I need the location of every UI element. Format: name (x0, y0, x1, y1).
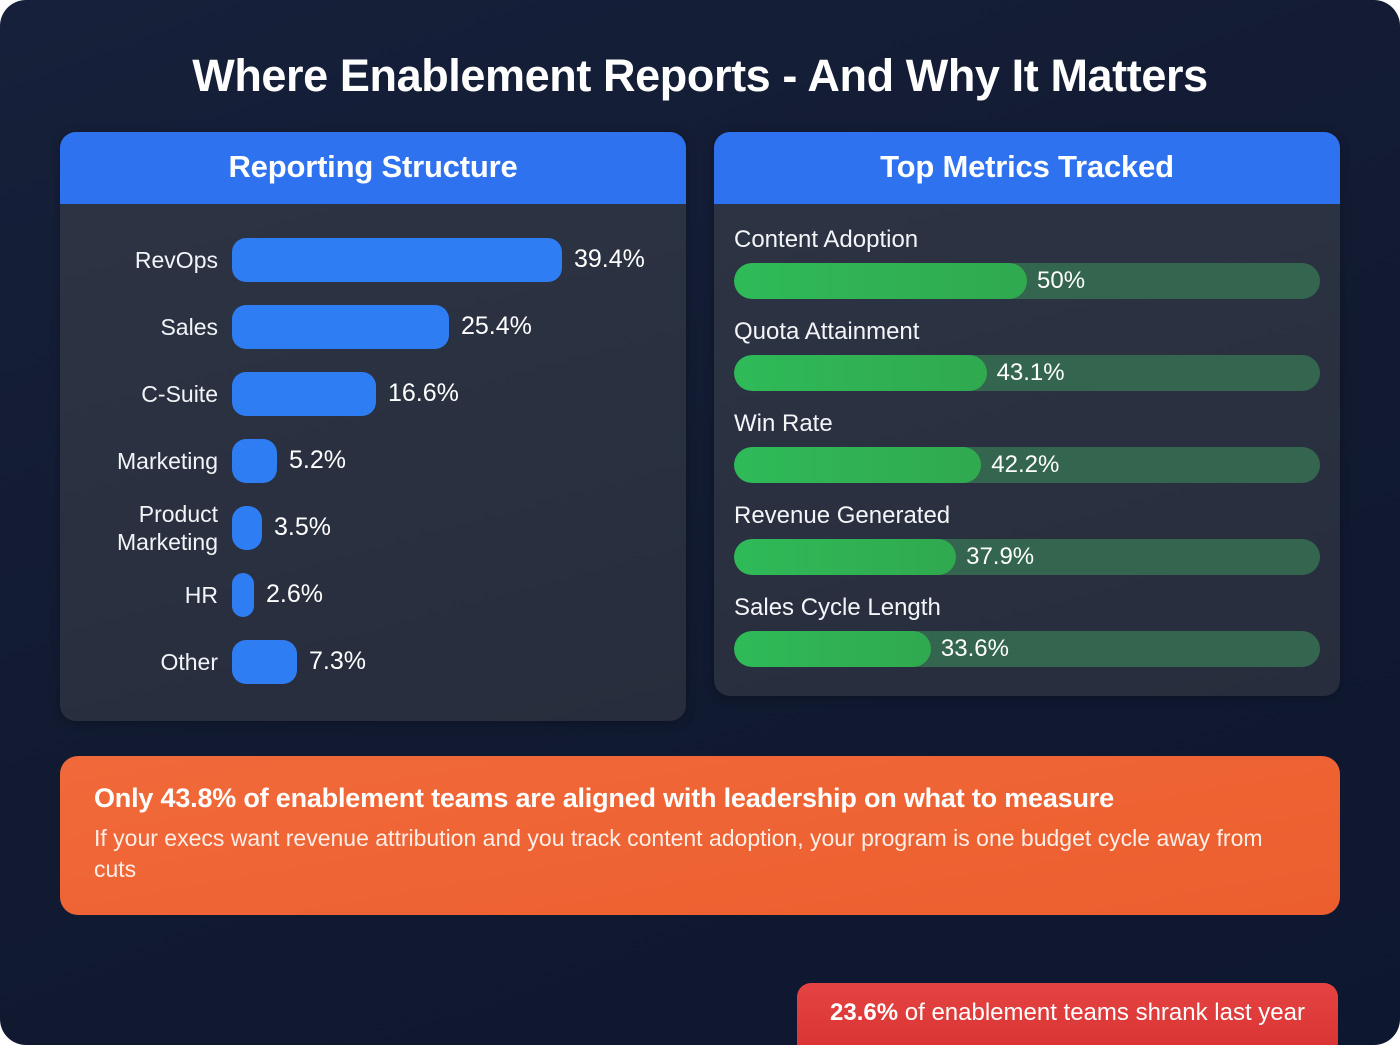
metric-item: Content Adoption50% (734, 226, 1320, 299)
metric-progress-bar: 43.1% (734, 355, 1320, 391)
bar-row: Sales25.4% (80, 293, 666, 360)
bar-row: C-Suite16.6% (80, 360, 666, 427)
bar-category-label: HR (80, 581, 232, 609)
reporting-structure-chart: RevOps39.4%Sales25.4%C-Suite16.6%Marketi… (60, 204, 686, 721)
metric-item: Revenue Generated37.9% (734, 502, 1320, 575)
bar-category-label: Sales (80, 313, 232, 341)
badge-value: 23.6% (830, 999, 898, 1026)
bar-fill (232, 305, 449, 349)
bar-category-label: Product Marketing (80, 500, 232, 556)
bar-value-label: 25.4% (449, 312, 532, 341)
metric-label: Content Adoption (734, 226, 1320, 254)
bar-track: 16.6% (232, 372, 666, 416)
bar-row: Marketing5.2% (80, 427, 666, 494)
bar-track: 25.4% (232, 305, 666, 349)
bar-fill (232, 506, 262, 550)
metric-progress-bar: 50% (734, 263, 1320, 299)
bar-track: 7.3% (232, 640, 666, 684)
bar-category-label: C-Suite (80, 380, 232, 408)
metric-progress-bar: 33.6% (734, 631, 1320, 667)
metric-label: Quota Attainment (734, 318, 1320, 346)
bar-category-label: Other (80, 648, 232, 676)
callout-subtext: If your execs want revenue attribution a… (94, 823, 1306, 885)
bar-category-label: RevOps (80, 246, 232, 274)
bar-fill (232, 439, 277, 483)
metric-value-label: 43.1% (987, 355, 1065, 391)
bar-row: Other7.3% (80, 628, 666, 695)
bar-fill (232, 238, 562, 282)
bar-value-label: 39.4% (562, 245, 645, 274)
metric-value-label: 50% (1027, 263, 1085, 299)
metric-value-label: 37.9% (956, 539, 1034, 575)
status-badge-shrank: 23.6% of enablement teams shrank last ye… (797, 983, 1338, 1045)
bar-fill (232, 573, 254, 617)
metric-label: Win Rate (734, 410, 1320, 438)
metric-item: Sales Cycle Length33.6% (734, 594, 1320, 667)
metric-value-label: 33.6% (931, 631, 1009, 667)
panel-reporting-structure: Reporting Structure RevOps39.4%Sales25.4… (60, 132, 686, 721)
bar-value-label: 5.2% (277, 446, 346, 475)
bar-track: 2.6% (232, 573, 666, 617)
badge-text: of enablement teams shrank last year (898, 999, 1305, 1026)
bar-row: Product Marketing3.5% (80, 494, 666, 561)
bar-value-label: 3.5% (262, 513, 331, 542)
bar-category-label: Marketing (80, 447, 232, 475)
panels-row: Reporting Structure RevOps39.4%Sales25.4… (0, 99, 1400, 721)
bar-row: HR2.6% (80, 561, 666, 628)
metric-label: Revenue Generated (734, 502, 1320, 530)
metric-progress-fill (734, 631, 931, 667)
metric-progress-fill (734, 447, 981, 483)
metric-progress-bar: 42.2% (734, 447, 1320, 483)
infographic-root: Where Enablement Reports - And Why It Ma… (0, 0, 1400, 1045)
metric-progress-fill (734, 539, 956, 575)
bar-track: 5.2% (232, 439, 666, 483)
bar-track: 39.4% (232, 238, 666, 282)
callout-banner: Only 43.8% of enablement teams are align… (60, 756, 1340, 914)
metric-progress-bar: 37.9% (734, 539, 1320, 575)
metric-item: Quota Attainment43.1% (734, 318, 1320, 391)
bar-track: 3.5% (232, 506, 666, 550)
bar-value-label: 16.6% (376, 379, 459, 408)
bar-fill (232, 372, 376, 416)
callout-headline: Only 43.8% of enablement teams are align… (94, 782, 1306, 814)
metric-label: Sales Cycle Length (734, 594, 1320, 622)
top-metrics-chart: Content Adoption50%Quota Attainment43.1%… (714, 204, 1340, 696)
metric-item: Win Rate42.2% (734, 410, 1320, 483)
metric-value-label: 42.2% (981, 447, 1059, 483)
bar-row: RevOps39.4% (80, 226, 666, 293)
bar-value-label: 2.6% (254, 580, 323, 609)
metric-progress-fill (734, 263, 1027, 299)
panel-top-metrics: Top Metrics Tracked Content Adoption50%Q… (714, 132, 1340, 696)
metric-progress-fill (734, 355, 987, 391)
panel-header-reporting-structure: Reporting Structure (60, 132, 686, 204)
panel-header-top-metrics: Top Metrics Tracked (714, 132, 1340, 204)
bar-value-label: 7.3% (297, 647, 366, 676)
page-title: Where Enablement Reports - And Why It Ma… (0, 0, 1400, 99)
bar-fill (232, 640, 297, 684)
